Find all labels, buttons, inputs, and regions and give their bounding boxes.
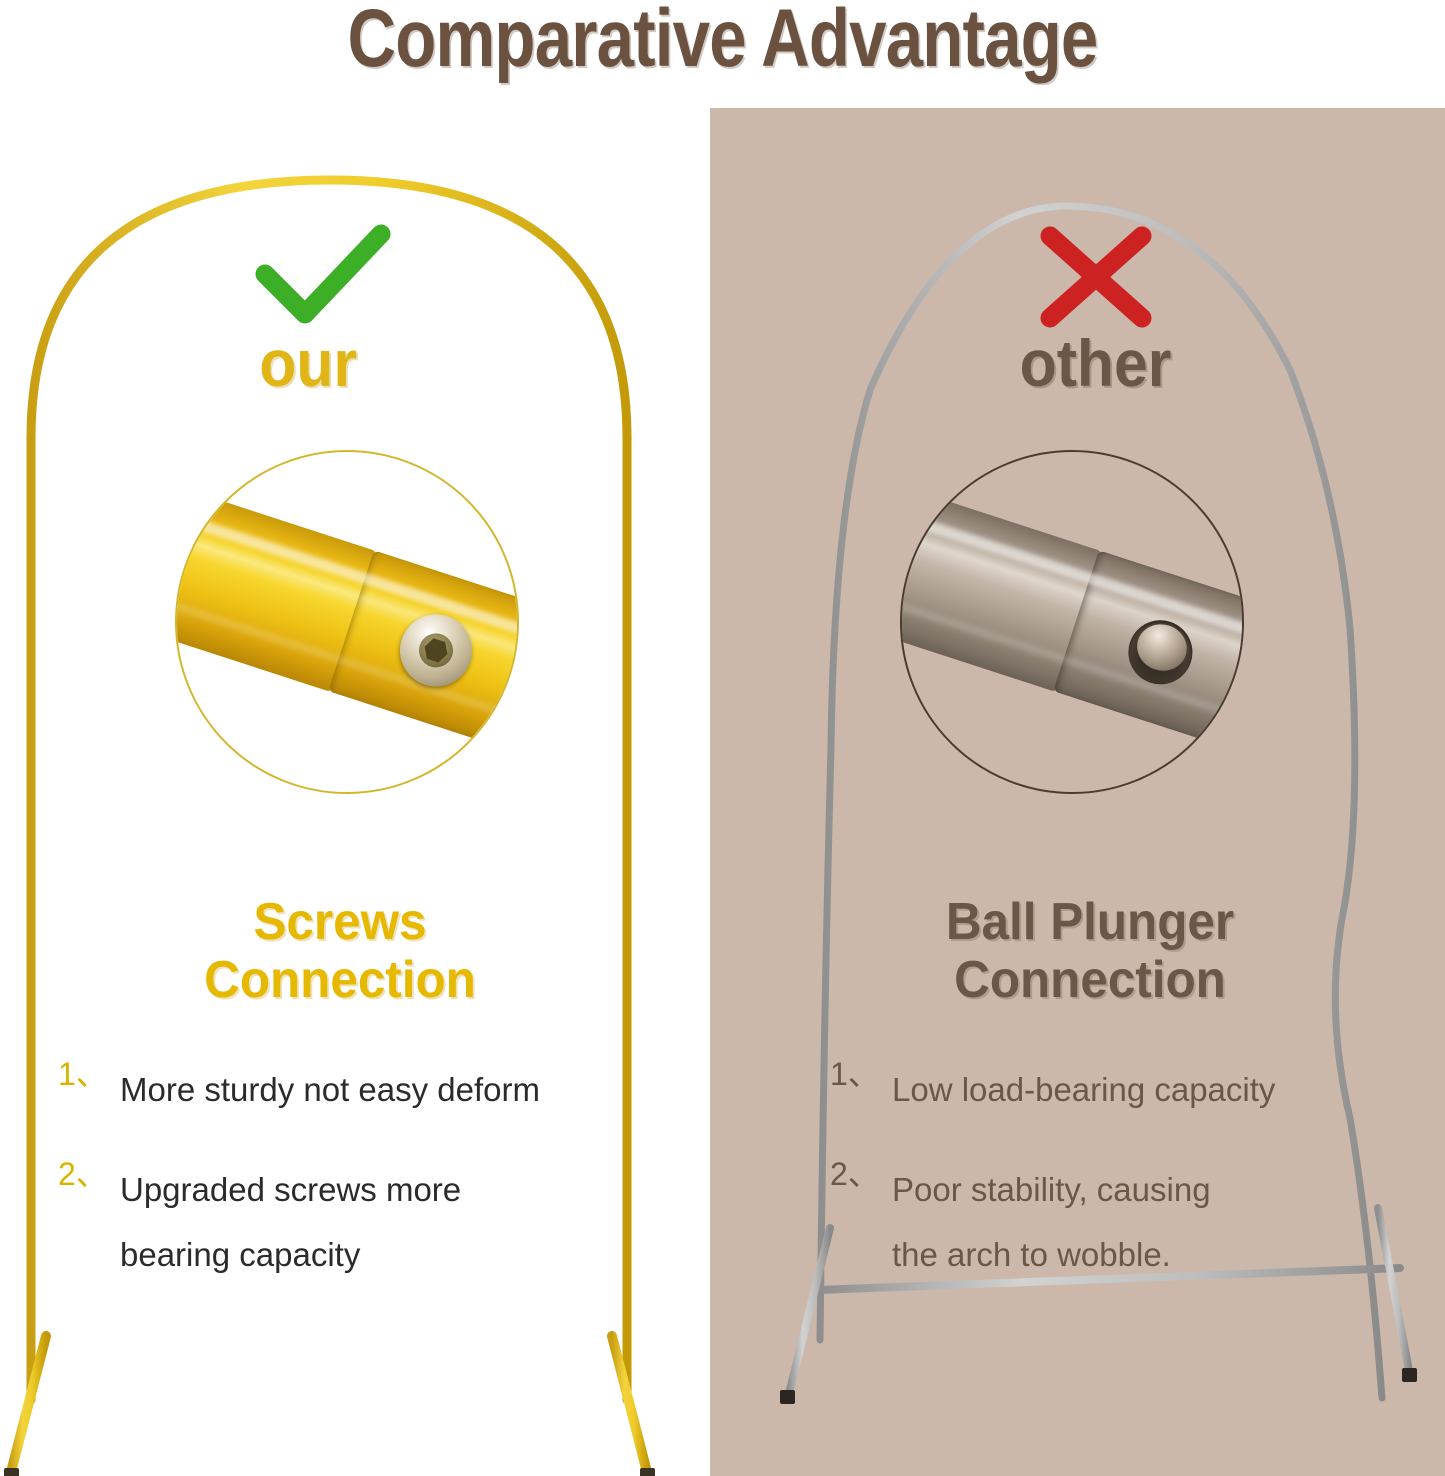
list-item: 2、 Upgraded screws more bearing capacity: [58, 1158, 658, 1287]
brand-label-other: other: [1020, 330, 1172, 396]
page-title: Comparative Advantage: [130, 0, 1315, 82]
list-item: 2、 Poor stability, causing the arch to w…: [830, 1158, 1430, 1287]
cross-mark-icon: [1020, 222, 1170, 332]
list-item: 1、 More sturdy not easy deform: [58, 1058, 658, 1122]
list-item-text: Poor stability, causing the arch to wobb…: [892, 1158, 1430, 1287]
list-item: 1、 Low load-bearing capacity: [830, 1058, 1430, 1122]
right-panel-other: other Ball Plunger Connection 1、 Low loa…: [710, 108, 1445, 1476]
comparative-advantage-infographic: Comparative Advantage: [0, 0, 1445, 1476]
left-panel-bullet-list: 1、 More sturdy not easy deform 2、 Upgrad…: [58, 1058, 658, 1323]
list-item-text: More sturdy not easy deform: [120, 1058, 658, 1122]
right-panel-heading: Ball Plunger Connection: [824, 893, 1356, 1009]
check-mark-icon: [247, 222, 397, 332]
right-panel-bullet-list: 1、 Low load-bearing capacity 2、 Poor sta…: [830, 1058, 1430, 1323]
screw-joint-detail-photo: [175, 450, 519, 794]
list-item-number: 1、: [830, 1058, 892, 1090]
list-item-number: 2、: [830, 1158, 892, 1190]
list-item-number: 2、: [58, 1158, 120, 1190]
list-item-text: Upgraded screws more bearing capacity: [120, 1158, 658, 1287]
list-item-number: 1、: [58, 1058, 120, 1090]
ball-plunger-joint-detail-photo: [900, 450, 1244, 794]
left-panel-our: our Screws Connection 1、 More sturdy not…: [0, 108, 710, 1476]
left-panel-heading: Screws Connection: [74, 893, 606, 1009]
list-item-text: Low load-bearing capacity: [892, 1058, 1430, 1122]
brand-label-our: our: [259, 330, 357, 396]
